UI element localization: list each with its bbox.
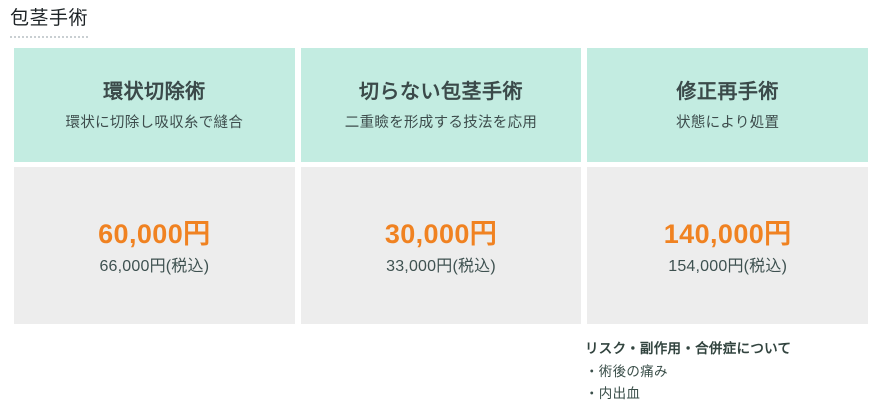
treatment-name-2: 切らない包茎手術 [359,78,523,106]
treatment-header-cell-2: 切らない包茎手術 二重瞼を形成する技法を応用 [301,48,582,162]
page-title: 包茎手術 [10,6,88,38]
treatment-name-3: 修正再手術 [676,78,779,106]
price-cell-3: 140,000円 154,000円(税込) [587,167,868,324]
price-cell-1: 60,000円 66,000円(税込) [14,167,295,324]
risk-note-title: リスク・副作用・合併症について [585,338,875,359]
price-amount-1: 60,000円 [98,217,210,251]
treatment-description-2: 二重瞼を形成する技法を応用 [345,113,537,133]
treatment-description-1: 環状に切除し吸収糸で縫合 [66,113,244,133]
risk-note-item-2: ・内出血 [585,383,875,405]
price-cell-2: 30,000円 33,000円(税込) [301,167,582,324]
risk-note: リスク・副作用・合併症について ・術後の痛み ・内出血 [585,338,875,405]
risk-note-item-1: ・術後の痛み [585,361,875,383]
price-with-tax-2: 33,000円(税込) [386,256,496,278]
table-header-row: 環状切除術 環状に切除し吸収糸で縫合 切らない包茎手術 二重瞼を形成する技法を応… [14,48,868,162]
treatment-description-3: 状態により処置 [676,113,779,133]
price-with-tax-1: 66,000円(税込) [99,256,209,278]
price-amount-3: 140,000円 [664,217,792,251]
price-amount-2: 30,000円 [385,217,497,251]
treatment-header-cell-3: 修正再手術 状態により処置 [587,48,868,162]
table-price-row: 60,000円 66,000円(税込) 30,000円 33,000円(税込) … [14,167,868,324]
price-table-page: 包茎手術 環状切除術 環状に切除し吸収糸で縫合 切らない包茎手術 二重瞼を形成す… [0,0,882,419]
price-table: 環状切除術 環状に切除し吸収糸で縫合 切らない包茎手術 二重瞼を形成する技法を応… [14,48,868,324]
price-with-tax-3: 154,000円(税込) [668,256,787,278]
treatment-name-1: 環状切除術 [103,78,206,106]
treatment-header-cell-1: 環状切除術 環状に切除し吸収糸で縫合 [14,48,295,162]
